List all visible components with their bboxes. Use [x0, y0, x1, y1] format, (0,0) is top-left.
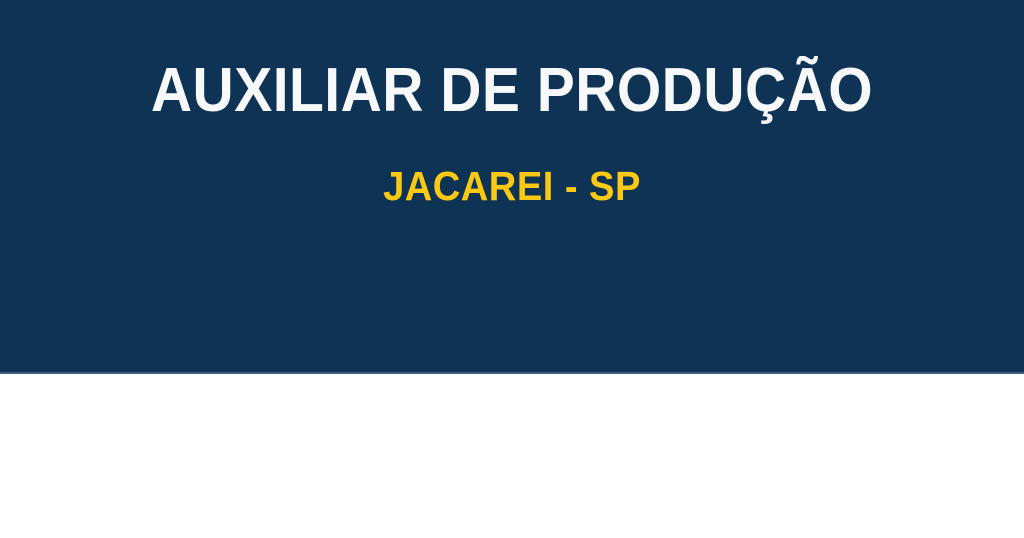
job-banner: AUXILIAR DE PRODUÇÃO JACAREI - SP	[0, 0, 1024, 374]
footer-bar: CANDIDATAR-SE e EMPREGA SÃO JOSÉ	[0, 376, 1024, 538]
job-posting-card: AUXILIAR DE PRODUÇÃO JACAREI - SP CANDID…	[0, 0, 1024, 538]
page-title: AUXILIAR DE PRODUÇÃO	[41, 57, 983, 125]
job-location: JACAREI - SP	[36, 163, 988, 209]
